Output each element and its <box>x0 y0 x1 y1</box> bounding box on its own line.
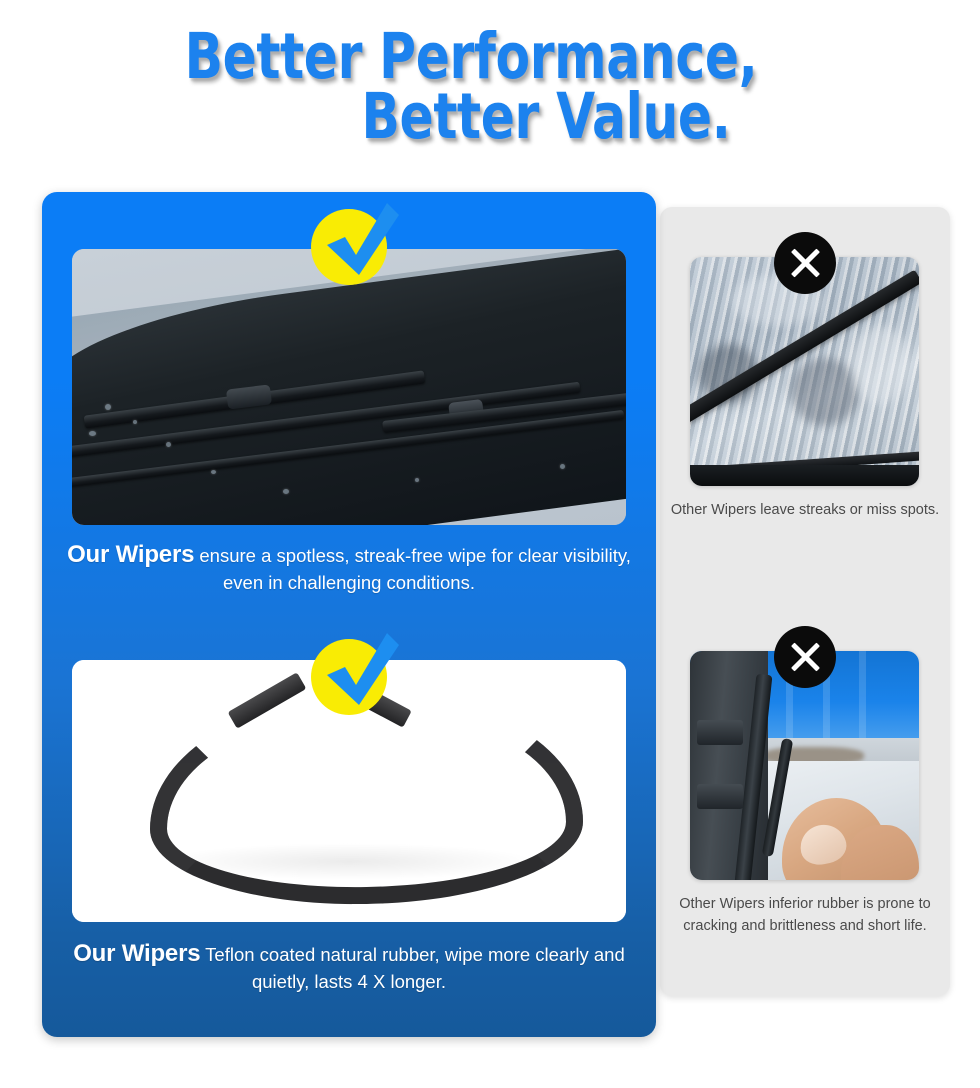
headline-line-1: Better Performance, <box>64 28 878 86</box>
check-mark-icon <box>311 209 387 285</box>
other-wipers-caption-1: Other Wipers leave streaks or miss spots… <box>668 499 942 521</box>
x-mark-icon <box>774 626 836 688</box>
our-wipers-caption-1-rest: ensure a spotless, streak-free wipe for … <box>194 545 631 593</box>
our-wipers-panel: Our Wipers ensure a spotless, streak-fre… <box>42 192 656 1037</box>
page-headline: Better Performance, Better Value. <box>0 28 980 146</box>
our-wipers-caption-1: Our Wipers ensure a spotless, streak-fre… <box>64 539 634 596</box>
our-wipers-caption-2-bold: Our Wipers <box>73 940 200 967</box>
our-wipers-caption-2-rest: Teflon coated natural rubber, wipe more … <box>200 944 624 992</box>
check-mark-icon <box>311 639 387 715</box>
x-mark-icon <box>774 232 836 294</box>
our-wipers-caption-1-bold: Our Wipers <box>67 541 194 568</box>
our-wipers-caption-2: Our Wipers Teflon coated natural rubber,… <box>64 938 634 995</box>
headline-line-2: Better Value. <box>199 88 893 146</box>
other-wipers-card: Other Wipers leave streaks or miss spots… <box>660 207 950 996</box>
other-wipers-caption-2: Other Wipers inferior rubber is prone to… <box>668 893 942 938</box>
